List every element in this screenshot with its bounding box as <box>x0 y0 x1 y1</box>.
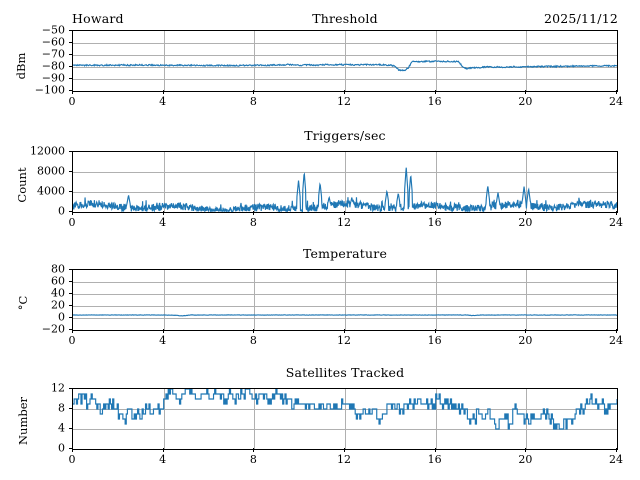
ytick-label: 0 <box>0 311 65 324</box>
xtick-label: 24 <box>609 453 623 466</box>
ytick-label: 80 <box>0 263 65 276</box>
xtick-mark <box>525 329 526 333</box>
xtick-mark <box>72 211 73 215</box>
xtick-mark <box>525 211 526 215</box>
ytick-label: 4000 <box>0 185 65 198</box>
xtick-label: 20 <box>518 216 532 229</box>
panel-temperature: Temperature °C −2002040608004812162024 <box>0 238 640 356</box>
panel-threshold-title: Threshold <box>245 11 445 26</box>
xtick-label: 8 <box>250 334 257 347</box>
panel-threshold: Howard Threshold 2025/11/12 dBm −100−90−… <box>0 0 640 120</box>
xtick-label: 8 <box>250 95 257 108</box>
xtick-mark <box>525 90 526 94</box>
xtick-mark <box>525 448 526 452</box>
xtick-label: 4 <box>159 334 166 347</box>
ytick-mark <box>69 30 73 31</box>
xtick-label: 24 <box>609 216 623 229</box>
ytick-mark <box>69 293 73 294</box>
ytick-mark <box>69 78 73 79</box>
ytick-label: 12 <box>0 382 65 395</box>
xtick-mark <box>344 329 345 333</box>
ytick-label: 0 <box>0 205 65 218</box>
xtick-label: 4 <box>159 216 166 229</box>
xtick-mark <box>435 211 436 215</box>
panel-satellites: Satellites Tracked Number 04812048121620… <box>0 356 640 480</box>
ytick-mark <box>69 66 73 67</box>
xtick-label: 16 <box>428 453 442 466</box>
xtick-mark <box>253 329 254 333</box>
xtick-label: 4 <box>159 453 166 466</box>
xtick-label: 20 <box>518 453 532 466</box>
figure-canvas: Howard Threshold 2025/11/12 dBm −100−90−… <box>0 0 640 480</box>
xtick-label: 12 <box>337 334 351 347</box>
panel-satellites-axes <box>72 388 618 450</box>
ytick-label: 8 <box>0 402 65 415</box>
xtick-mark <box>435 329 436 333</box>
ytick-label: 40 <box>0 287 65 300</box>
xtick-mark <box>163 448 164 452</box>
ytick-label: 12000 <box>0 145 65 158</box>
ytick-label: −90 <box>0 72 65 85</box>
xtick-label: 20 <box>518 95 532 108</box>
ytick-mark <box>69 42 73 43</box>
xtick-mark <box>253 211 254 215</box>
ytick-mark <box>69 428 73 429</box>
ytick-mark <box>69 317 73 318</box>
panel-triggers: Triggers/sec Count 040008000120000481216… <box>0 120 640 238</box>
xtick-label: 12 <box>337 216 351 229</box>
xtick-mark <box>344 211 345 215</box>
ytick-mark <box>69 408 73 409</box>
xtick-label: 0 <box>69 95 76 108</box>
data-trace <box>73 270 617 330</box>
ytick-label: 8000 <box>0 165 65 178</box>
ytick-mark <box>69 281 73 282</box>
xtick-label: 8 <box>250 453 257 466</box>
ytick-mark <box>69 171 73 172</box>
ytick-mark <box>69 305 73 306</box>
panel-temperature-title: Temperature <box>245 246 445 261</box>
ytick-label: 4 <box>0 422 65 435</box>
ytick-label: −70 <box>0 48 65 61</box>
ytick-mark <box>69 388 73 389</box>
ytick-mark <box>69 151 73 152</box>
ytick-label: 0 <box>0 442 65 455</box>
xtick-mark <box>616 329 617 333</box>
ytick-label: −60 <box>0 36 65 49</box>
xtick-label: 12 <box>337 95 351 108</box>
data-trace <box>73 389 617 449</box>
ytick-label: −50 <box>0 24 65 37</box>
xtick-mark <box>163 90 164 94</box>
ytick-label: −20 <box>0 323 65 336</box>
panel-threshold-axes <box>72 30 618 92</box>
panel-satellites-title: Satellites Tracked <box>235 365 455 380</box>
panel-threshold-left-title: Howard <box>72 11 252 26</box>
xtick-label: 0 <box>69 453 76 466</box>
xtick-label: 0 <box>69 334 76 347</box>
xtick-mark <box>253 448 254 452</box>
xtick-mark <box>616 90 617 94</box>
xtick-mark <box>616 211 617 215</box>
xtick-label: 24 <box>609 334 623 347</box>
xtick-mark <box>72 329 73 333</box>
xtick-label: 0 <box>69 216 76 229</box>
xtick-label: 16 <box>428 334 442 347</box>
xtick-mark <box>72 448 73 452</box>
xtick-mark <box>435 448 436 452</box>
xtick-label: 24 <box>609 95 623 108</box>
ytick-label: −100 <box>0 84 65 97</box>
xtick-label: 16 <box>428 216 442 229</box>
xtick-mark <box>435 90 436 94</box>
panel-triggers-axes <box>72 151 618 213</box>
xtick-mark <box>344 90 345 94</box>
data-trace <box>73 31 617 91</box>
panel-threshold-right-title: 2025/11/12 <box>437 11 618 26</box>
xtick-mark <box>163 211 164 215</box>
ytick-mark <box>69 191 73 192</box>
xtick-label: 20 <box>518 334 532 347</box>
xtick-label: 4 <box>159 95 166 108</box>
xtick-mark <box>344 448 345 452</box>
ytick-label: 60 <box>0 275 65 288</box>
xtick-mark <box>72 90 73 94</box>
ytick-label: 20 <box>0 299 65 312</box>
ytick-label: −80 <box>0 60 65 73</box>
xtick-label: 12 <box>337 453 351 466</box>
ytick-mark <box>69 54 73 55</box>
xtick-mark <box>253 90 254 94</box>
xtick-label: 16 <box>428 95 442 108</box>
data-trace <box>73 152 617 212</box>
xtick-mark <box>616 448 617 452</box>
panel-triggers-title: Triggers/sec <box>245 128 445 143</box>
panel-temperature-axes <box>72 269 618 331</box>
xtick-label: 8 <box>250 216 257 229</box>
ytick-mark <box>69 269 73 270</box>
xtick-mark <box>163 329 164 333</box>
